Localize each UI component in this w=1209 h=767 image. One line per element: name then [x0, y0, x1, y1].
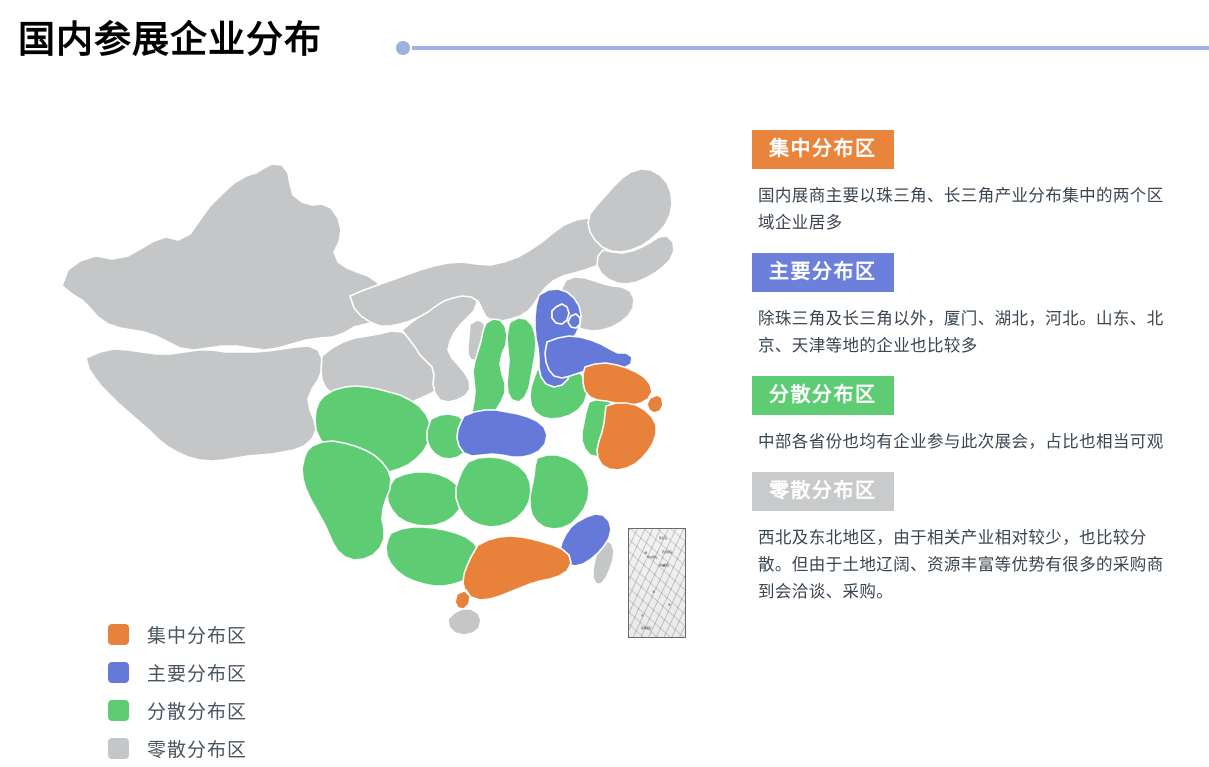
legend-item-sparse[interactable]: 零散分布区 — [108, 729, 338, 767]
province-guizhou[interactable] — [387, 472, 462, 526]
legend-label-sparse: 零散分布区 — [147, 735, 247, 762]
inset-label-0: 黄岩岛 — [659, 537, 667, 540]
legend-label-major: 主要分布区 — [147, 659, 247, 686]
info-badge-dispersed: 分散分布区 — [752, 376, 894, 415]
legend-item-major[interactable]: 主要分布区 — [108, 653, 338, 691]
legend-label-dispersed: 分散分布区 — [147, 697, 247, 724]
province-tibet[interactable] — [86, 346, 322, 461]
title-decoration-dot — [396, 41, 410, 55]
title-decoration-rule — [412, 46, 1209, 50]
info-badge-concentrated: 集中分布区 — [752, 130, 894, 169]
page-header: 国内参展企业分布 — [0, 0, 1209, 100]
china-distribution-map: 黄岩岛 西沙群岛 中沙群岛 南沙群岛 南海诸岛 集中分布区 主要分布区 分散分布… — [50, 110, 730, 670]
info-block-major: 主要分布区 除珠三角及长三角以外，厦门、湖北，河北。山东、北京、天津等地的企业也… — [752, 253, 1182, 360]
legend-swatch-icon-concentrated — [108, 624, 129, 645]
info-text-dispersed: 中部各省份也均有企业参与此次展会，占比也相当可观 — [758, 429, 1170, 456]
info-text-major: 除珠三角及长三角以外，厦门、湖北，河北。山东、北京、天津等地的企业也比较多 — [758, 306, 1170, 360]
page-title: 国内参展企业分布 — [18, 17, 322, 63]
province-xinjiang[interactable] — [62, 164, 394, 350]
province-hubei[interactable] — [457, 410, 547, 457]
province-zhejiang[interactable] — [597, 403, 656, 470]
legend-swatch-icon-major — [108, 662, 129, 683]
map-provinces — [62, 164, 674, 635]
legend-label-concentrated: 集中分布区 — [147, 621, 247, 648]
info-block-sparse: 零散分布区 西北及东北地区，由于相关产业相对较少，也比较分散。但由于土地辽阔、资… — [752, 472, 1182, 606]
legend-item-concentrated[interactable]: 集中分布区 — [108, 615, 338, 653]
inset-label-4: 南海诸岛 — [641, 627, 651, 630]
info-block-concentrated: 集中分布区 国内展商主要以珠三角、长三角产业分布集中的两个区域企业居多 — [752, 130, 1182, 237]
province-jiangxi[interactable] — [530, 455, 589, 529]
info-text-sparse: 西北及东北地区，由于相关产业相对较少，也比较分散。但由于土地辽阔、资源丰富等优势… — [758, 525, 1170, 606]
map-legend: 集中分布区 主要分布区 分散分布区 零散分布区 — [108, 615, 338, 767]
info-badge-sparse: 零散分布区 — [752, 472, 894, 511]
province-hainan[interactable] — [448, 609, 481, 635]
inset-label-3: 南沙群岛 — [659, 564, 669, 567]
info-block-dispersed: 分散分布区 中部各省份也均有企业参与此次展会，占比也相当可观 — [752, 376, 1182, 456]
inset-label-2: 中沙群岛 — [647, 556, 657, 559]
province-jiangsu[interactable] — [583, 363, 652, 405]
inset-label-1: 西沙群岛 — [662, 551, 672, 554]
info-badge-major: 主要分布区 — [752, 253, 894, 292]
province-yunnan[interactable] — [302, 441, 391, 560]
province-shanghai[interactable] — [647, 395, 663, 413]
distribution-info-panel: 集中分布区 国内展商主要以珠三角、长三角产业分布集中的两个区域企业居多 主要分布… — [752, 130, 1182, 622]
south-china-sea-inset: 黄岩岛 西沙群岛 中沙群岛 南沙群岛 南海诸岛 — [628, 528, 686, 638]
legend-swatch-icon-dispersed — [108, 700, 129, 721]
legend-item-dispersed[interactable]: 分散分布区 — [108, 691, 338, 729]
province-hunan[interactable] — [456, 457, 531, 527]
legend-swatch-icon-sparse — [108, 738, 129, 759]
info-text-concentrated: 国内展商主要以珠三角、长三角产业分布集中的两个区域企业居多 — [758, 183, 1170, 237]
